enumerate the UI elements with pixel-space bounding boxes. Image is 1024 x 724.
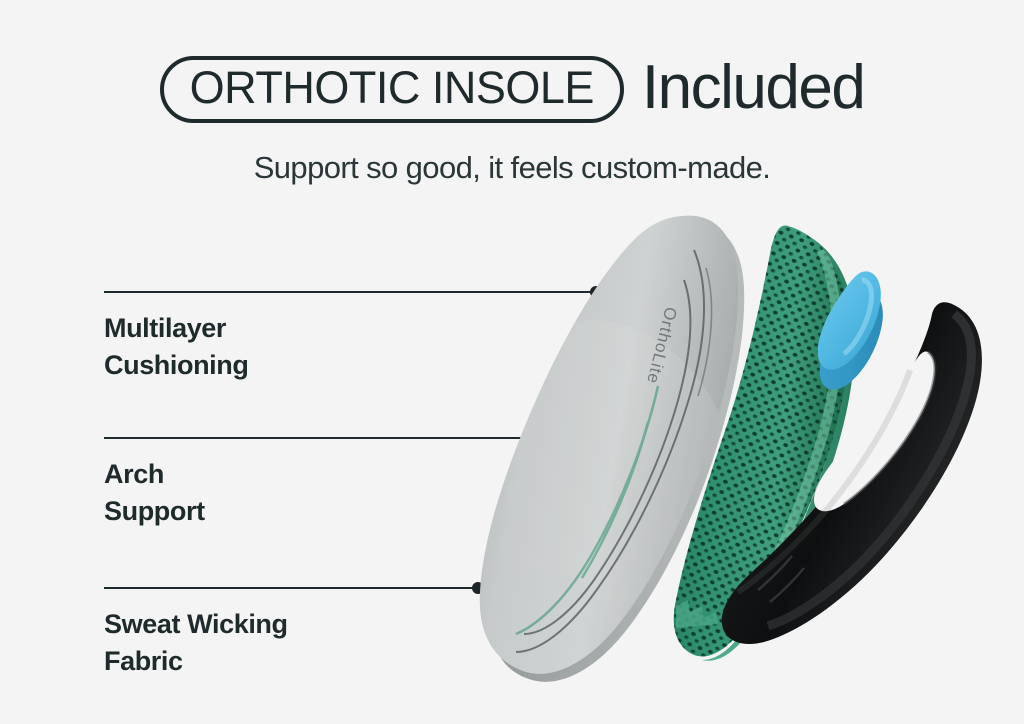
leader-line-wrap (104, 582, 288, 594)
headline: ORTHOTIC INSOLE Included (0, 56, 1024, 123)
feature-callout-multilayer-cushioning: Multilayer Cushioning (104, 286, 248, 384)
leader-line (104, 587, 476, 589)
included-label: Included (642, 57, 864, 119)
feature-label: Sweat Wicking Fabric (104, 606, 288, 680)
orthotic-insole-pill: ORTHOTIC INSOLE (160, 56, 624, 123)
subtitle: Support so good, it feels custom-made. (0, 150, 1024, 186)
feature-callout-sweat-wicking-fabric: Sweat Wicking Fabric (104, 582, 288, 680)
feature-label: Arch Support (104, 456, 205, 530)
product-image: OrthoLite (470, 210, 1024, 710)
pill-label: ORTHOTIC INSOLE (190, 65, 594, 110)
feature-label: Multilayer Cushioning (104, 310, 248, 384)
leader-line-wrap (104, 432, 205, 444)
feature-callout-arch-support: Arch Support (104, 432, 205, 530)
leader-line-wrap (104, 286, 248, 298)
